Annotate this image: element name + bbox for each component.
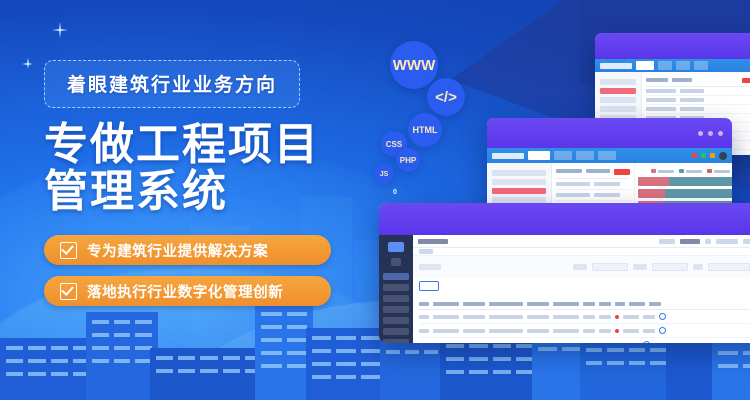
dashboard-window-front[interactable] — [379, 203, 750, 343]
bell-icon[interactable] — [710, 153, 715, 158]
list-item[interactable] — [600, 106, 636, 112]
list-item-selected[interactable] — [492, 188, 546, 194]
table-header-row — [646, 76, 750, 87]
table-header-row — [419, 300, 750, 310]
table-cell — [623, 329, 639, 333]
chart-bar-segment — [638, 177, 669, 186]
table-cell — [594, 193, 620, 197]
filter-select[interactable] — [652, 263, 688, 271]
breadcrumb — [419, 249, 433, 254]
table-row[interactable] — [419, 324, 750, 338]
window-titlebar — [487, 118, 732, 148]
checkbox-checked-icon — [60, 283, 77, 300]
table-cell — [463, 315, 485, 319]
feature-badge[interactable]: 专为建筑行业提供解决方案 — [44, 235, 331, 265]
table-cell — [583, 315, 595, 319]
subtitle-text: 着眼建筑行业业务方向 — [67, 75, 277, 96]
table-row[interactable] — [556, 190, 630, 201]
table-cell — [433, 315, 459, 319]
top-menu-bar — [413, 235, 750, 248]
table-cell — [463, 329, 485, 333]
status-dot — [615, 315, 619, 319]
table-cell — [646, 89, 676, 93]
nav-tab[interactable] — [676, 61, 690, 70]
table-column-header — [599, 302, 611, 306]
headline-line-2: 管理系统 — [44, 169, 344, 216]
building-silhouette — [306, 328, 386, 400]
app-title — [418, 239, 448, 244]
chart-legend — [638, 169, 732, 173]
table-column-header — [553, 302, 579, 306]
tech-bubble-php: PHP — [396, 148, 420, 172]
sidebar-logo-icon — [388, 242, 404, 252]
headline: 专做工程项目 管理系统 — [44, 122, 344, 215]
message-icon[interactable] — [701, 153, 706, 158]
app-sidebar[interactable] — [379, 235, 413, 343]
building-silhouette — [440, 336, 540, 400]
avatar[interactable] — [719, 152, 727, 160]
feature-badge-label: 落地执行行业数字化管理创新 — [87, 281, 283, 302]
table-cell — [419, 329, 429, 333]
chart-bar — [638, 189, 732, 198]
table-row[interactable] — [646, 87, 750, 96]
legend-swatch — [679, 169, 684, 173]
chart-bar — [638, 177, 732, 186]
table-column-header — [672, 78, 692, 82]
table-cell — [646, 107, 676, 111]
status-dot — [615, 329, 619, 333]
window-top-nav — [487, 148, 732, 163]
table-cell — [599, 315, 611, 319]
row-action-icon[interactable] — [659, 313, 666, 320]
tech-bubble-0: 0 — [389, 186, 401, 198]
date-range-input[interactable] — [708, 263, 750, 271]
table-cell — [594, 182, 620, 186]
list-item[interactable] — [600, 79, 636, 85]
table-cell — [627, 343, 639, 344]
feature-badge-label: 专为建筑行业提供解决方案 — [87, 240, 268, 261]
add-button[interactable] — [419, 281, 439, 291]
list-item[interactable] — [492, 179, 546, 185]
list-item-selected[interactable] — [600, 88, 636, 94]
filter-toolbar — [413, 256, 750, 278]
chevron-down-icon[interactable] — [705, 239, 711, 244]
table-cell — [433, 329, 459, 333]
chart-legend-item — [651, 169, 674, 173]
nav-tab[interactable] — [636, 61, 654, 70]
headline-line-1: 专做工程项目 — [44, 122, 344, 169]
table-cell — [643, 315, 655, 319]
table-cell — [463, 343, 485, 344]
table-cell — [680, 98, 704, 102]
table-cell — [433, 343, 459, 344]
export-button[interactable] — [614, 169, 630, 175]
table-cell — [643, 329, 655, 333]
nav-tab[interactable] — [554, 151, 572, 160]
filter-label — [573, 264, 587, 270]
building-silhouette — [86, 312, 158, 400]
table-row[interactable] — [419, 338, 750, 343]
subtitle-box: 着眼建筑行业业务方向 — [44, 60, 300, 108]
filter-label — [693, 264, 703, 270]
nav-tab[interactable] — [694, 61, 708, 70]
list-item[interactable] — [600, 97, 636, 103]
filter-label — [419, 264, 441, 270]
table-column-header — [556, 169, 582, 173]
banner-copy: 着眼建筑行业业务方向 专做工程项目 管理系统 专为建筑行业提供解决方案 落地执行… — [44, 60, 344, 317]
promotional-banner: 着眼建筑行业业务方向 专做工程项目 管理系统 专为建筑行业提供解决方案 落地执行… — [0, 0, 750, 400]
tech-bubble-: </> — [427, 78, 465, 116]
feature-badge-list: 专为建筑行业提供解决方案 落地执行行业数字化管理创新 — [44, 235, 344, 306]
table-cell — [553, 329, 579, 333]
table-row[interactable] — [419, 310, 750, 324]
table-column-header — [489, 302, 523, 306]
app-logo-icon — [492, 153, 524, 159]
window-dot[interactable] — [718, 131, 723, 136]
table-row[interactable] — [646, 105, 750, 114]
sidebar-item-materials[interactable] — [383, 317, 409, 324]
menu-item[interactable] — [743, 239, 750, 244]
sidebar-item-finance[interactable] — [383, 306, 409, 313]
sparkle-icon — [52, 22, 68, 38]
table-cell — [623, 315, 639, 319]
table-cell — [527, 343, 549, 344]
table-column-header — [629, 302, 645, 306]
legend-label — [658, 170, 674, 173]
row-action-icon[interactable] — [643, 341, 650, 343]
main-content-pane — [413, 235, 750, 343]
table-cell — [419, 315, 429, 319]
table-cell — [489, 329, 523, 333]
legend-swatch — [651, 169, 656, 173]
chart-bar-segment — [638, 189, 665, 198]
data-table — [413, 298, 750, 343]
chart-legend-item — [707, 169, 730, 173]
table-cell — [646, 98, 676, 102]
sidebar-item-dashboard[interactable] — [383, 273, 409, 280]
chart-bar-segment — [665, 189, 732, 198]
nav-tab[interactable] — [598, 151, 616, 160]
nav-tab[interactable] — [658, 61, 672, 70]
table-cell — [583, 343, 595, 344]
table-column-header — [646, 78, 668, 82]
chart-bar-segment — [669, 177, 732, 186]
sidebar-item-settings[interactable] — [383, 339, 409, 343]
row-action-icon[interactable] — [659, 327, 666, 334]
feature-badge[interactable]: 落地执行行业数字化管理创新 — [44, 276, 331, 306]
table-cell — [599, 329, 611, 333]
building-silhouette — [255, 304, 313, 400]
table-row[interactable] — [556, 179, 630, 190]
table-cell — [527, 329, 549, 333]
table-cell — [599, 343, 611, 344]
table-cell — [680, 89, 704, 93]
sidebar-item-reports[interactable] — [383, 328, 409, 335]
menu-item[interactable] — [659, 239, 675, 244]
table-cell — [553, 343, 579, 344]
menu-item[interactable] — [716, 239, 738, 244]
status-dot — [615, 343, 619, 344]
window-titlebar — [379, 203, 750, 235]
export-button[interactable] — [742, 78, 750, 83]
window-top-nav — [595, 59, 750, 72]
table-column-header — [433, 302, 459, 306]
table-cell — [583, 329, 595, 333]
tech-bubble-html: HTML — [408, 113, 442, 147]
sidebar-collapse-icon[interactable] — [391, 258, 401, 266]
nav-tab[interactable] — [528, 151, 550, 160]
filter-select[interactable] — [592, 263, 628, 271]
table-header-row — [556, 167, 630, 179]
window-titlebar — [595, 33, 750, 59]
table-cell — [489, 315, 523, 319]
table-cell — [556, 182, 590, 186]
tech-bubble-www: WWW — [390, 41, 438, 89]
app-logo-icon — [600, 63, 632, 69]
table-cell — [527, 315, 549, 319]
table-row[interactable] — [646, 96, 750, 105]
building-silhouette — [0, 338, 96, 400]
sparkle-icon — [22, 58, 33, 69]
table-cell — [553, 315, 579, 319]
table-column-header — [463, 302, 485, 306]
menu-item-active[interactable] — [680, 239, 700, 244]
table-column-header — [583, 302, 595, 306]
window-dot[interactable] — [708, 131, 713, 136]
list-item[interactable] — [492, 170, 546, 176]
legend-label — [686, 170, 702, 173]
table-column-header — [527, 302, 549, 306]
nav-tab[interactable] — [576, 151, 594, 160]
legend-label — [714, 170, 730, 173]
table-cell — [556, 193, 590, 197]
legend-swatch — [707, 169, 712, 173]
building-silhouette — [150, 348, 268, 400]
sidebar-item-projects[interactable] — [383, 284, 409, 291]
table-column-header — [649, 302, 661, 306]
chart-legend-item — [679, 169, 702, 173]
table-column-header — [615, 302, 625, 306]
table-cell — [489, 343, 523, 344]
checkbox-checked-icon — [60, 242, 77, 259]
tech-bubble-js: JS — [374, 164, 394, 184]
sidebar-item-contracts[interactable] — [383, 295, 409, 302]
table-column-header — [419, 302, 429, 306]
filter-label — [633, 264, 647, 270]
table-cell — [419, 343, 429, 344]
table-cell — [680, 107, 704, 111]
window-dot[interactable] — [698, 131, 703, 136]
alert-icon[interactable] — [692, 153, 697, 158]
table-column-header — [586, 169, 610, 173]
